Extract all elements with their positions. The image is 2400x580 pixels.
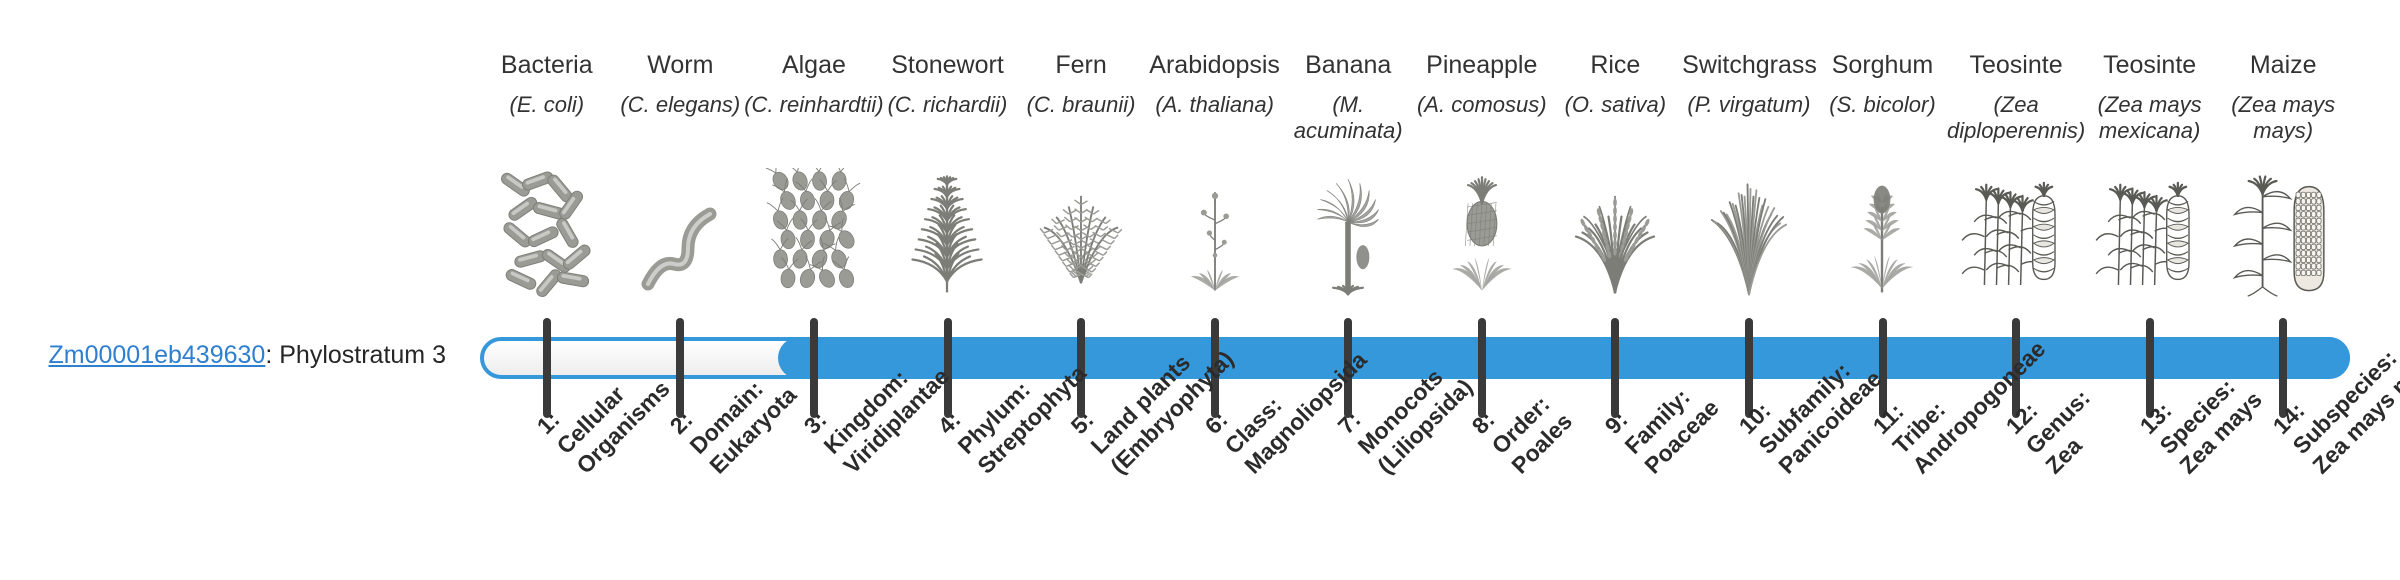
species-common-name: Teosinte bbox=[1949, 52, 2083, 80]
species-scientific-name: (A. thaliana) bbox=[1144, 92, 1286, 118]
switchgrass-icon bbox=[1682, 168, 1816, 298]
phylostratum-figure: Zm00001eb439630: Phylostratum 3 Bacteria… bbox=[0, 0, 2400, 580]
species-common-name: Algae bbox=[747, 52, 881, 80]
species-scientific-name: (S. bicolor) bbox=[1812, 92, 1954, 118]
stratum-labels: 1:CellularOrganisms2:Domain:Eukaryota3:K… bbox=[480, 420, 2350, 580]
species-scientific-name: (M. acuminata) bbox=[1277, 92, 1419, 143]
species-scientific-name: (E. coli) bbox=[476, 92, 618, 118]
species-scientific-name: (O. sativa) bbox=[1545, 92, 1687, 118]
gene-id-link[interactable]: Zm00001eb439630 bbox=[48, 341, 265, 369]
species-common-name: Arabidopsis bbox=[1148, 52, 1282, 80]
species-scientific-name: (Zea diploperennis) bbox=[1945, 92, 2087, 143]
banana-icon bbox=[1281, 168, 1415, 298]
algae-icon bbox=[747, 168, 881, 298]
gene-phylostratum-label: Zm00001eb439630: Phylostratum 3 bbox=[0, 340, 460, 370]
species-scientific-name: (Zea mays mays) bbox=[2212, 92, 2354, 143]
species-scientific-name: (C. braunii) bbox=[1010, 92, 1152, 118]
species-scientific-name: (C. elegans) bbox=[610, 92, 752, 118]
species-scientific-name: (P. virgatum) bbox=[1678, 92, 1820, 118]
species-common-name: Bacteria bbox=[480, 52, 614, 80]
fern-icon bbox=[1014, 168, 1148, 298]
sorghum-icon bbox=[1816, 168, 1950, 298]
species-common-name: Worm bbox=[614, 52, 748, 80]
species-scientific-name: (A. comosus) bbox=[1411, 92, 1553, 118]
species-common-name: Rice bbox=[1549, 52, 1683, 80]
species-common-name: Fern bbox=[1014, 52, 1148, 80]
rice-icon bbox=[1549, 168, 1683, 298]
species-scientific-name: (Zea mays mexicana) bbox=[2079, 92, 2221, 143]
teosinte-plant-ear-icon bbox=[2083, 168, 2217, 298]
teosinte-plant-ear-icon bbox=[1949, 168, 2083, 298]
species-common-name: Switchgrass bbox=[1682, 52, 1816, 80]
stonewort-icon bbox=[881, 168, 1015, 298]
pineapple-icon bbox=[1415, 168, 1549, 298]
bacteria-icon bbox=[480, 168, 614, 298]
species-scientific-name: (C. reinhardtii) bbox=[743, 92, 885, 118]
species-common-name: Banana bbox=[1281, 52, 1415, 80]
species-common-name: Stonewort bbox=[881, 52, 1015, 80]
worm-icon bbox=[614, 168, 748, 298]
species-common-name: Sorghum bbox=[1816, 52, 1950, 80]
maize-plant-cob-icon bbox=[2216, 168, 2350, 298]
gene-label-separator: : bbox=[265, 341, 279, 369]
species-common-name: Maize bbox=[2216, 52, 2350, 80]
species-common-name: Teosinte bbox=[2083, 52, 2217, 80]
species-scientific-name: (C. richardii) bbox=[877, 92, 1019, 118]
phylostratum-value-text: Phylostratum 3 bbox=[279, 341, 446, 369]
arabidopsis-icon bbox=[1148, 168, 1282, 298]
species-common-name: Pineapple bbox=[1415, 52, 1549, 80]
